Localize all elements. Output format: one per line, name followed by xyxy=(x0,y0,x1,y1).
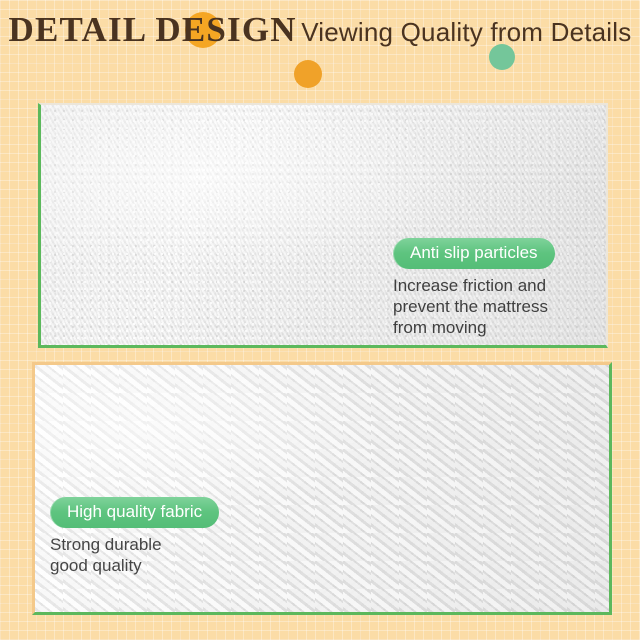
page-title: DETAIL DESIGN xyxy=(9,12,297,49)
title-group: DETAIL DESIGN xyxy=(9,12,297,49)
callout-anti-slip: Anti slip particles Increase friction an… xyxy=(393,238,599,338)
badge-high-quality-fabric: High quality fabric xyxy=(50,497,219,528)
subtitle-group: Viewing Quality from Details xyxy=(301,17,631,48)
callout-text-anti-slip: Increase friction and prevent the mattre… xyxy=(393,276,599,338)
badge-anti-slip-particles: Anti slip particles xyxy=(393,238,555,269)
page-subtitle: Viewing Quality from Details xyxy=(301,17,631,48)
header: DETAIL DESIGN Viewing Quality from Detai… xyxy=(0,0,640,96)
product-photo-high-quality xyxy=(32,362,612,615)
callout-high-quality: High quality fabric Strong durable good … xyxy=(50,497,260,577)
callout-text-high-quality: Strong durable good quality xyxy=(50,535,260,576)
